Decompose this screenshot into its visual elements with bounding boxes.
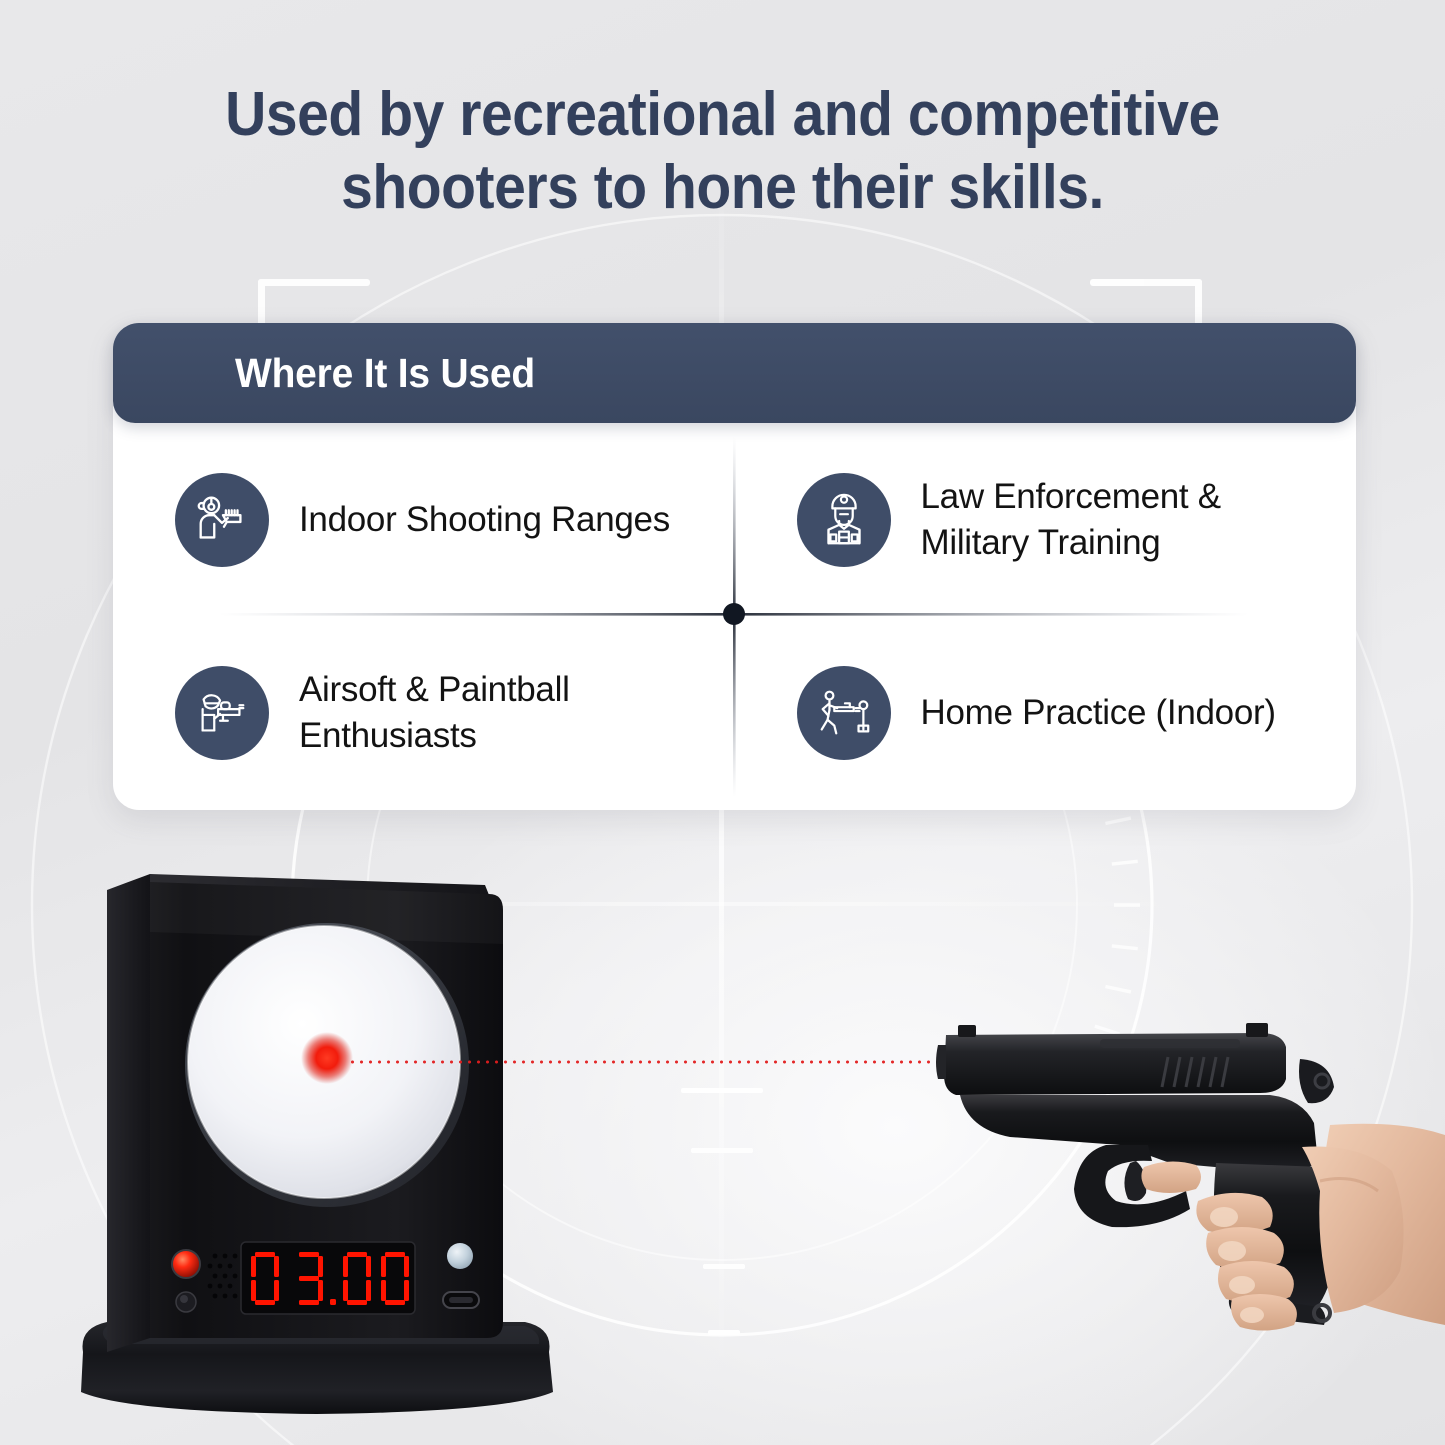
usage-item-label: Home Practice (Indoor) [921, 690, 1276, 736]
red-laser-dot [301, 1032, 353, 1084]
rifle-shooter-target-stand-icon [797, 666, 891, 760]
page-title: Used by recreational and competitive sho… [58, 78, 1387, 224]
usage-item-home-practice-indoor[interactable]: Home Practice (Indoor) [735, 617, 1357, 811]
where-it-is-used-card: Where It Is Used [113, 323, 1356, 810]
pistol-frame [960, 1095, 1318, 1173]
dotted-laser-line [348, 1060, 988, 1064]
usage-item-law-enforcement-military[interactable]: Law Enforcement & Military Training [735, 423, 1357, 617]
device-side-panel [107, 874, 150, 1352]
usage-item-label: Indoor Shooting Ranges [299, 497, 670, 543]
usage-item-label: Law Enforcement & Military Training [921, 474, 1323, 566]
paintball-player-icon [175, 666, 269, 760]
infographic-canvas: Used by recreational and competitive sho… [0, 0, 1445, 1445]
blue-status-led [447, 1243, 473, 1269]
usage-items-grid: Indoor Shooting Ranges [113, 423, 1356, 810]
hand-holding-pistol [930, 995, 1445, 1425]
shooter-with-pistol-icon [175, 473, 269, 567]
soldier-tactical-vest-icon [797, 473, 891, 567]
usage-item-airsoft-paintball[interactable]: Airsoft & Paintball Enthusiasts [113, 617, 735, 811]
card-title: Where It Is Used [235, 350, 535, 397]
headline-line-1: Used by recreational and competitive [113, 78, 1332, 151]
laser-training-target-device [55, 852, 575, 1432]
usage-item-indoor-shooting-ranges[interactable]: Indoor Shooting Ranges [113, 423, 735, 617]
card-header-banner: Where It Is Used [113, 323, 1356, 423]
trigger-finger [1141, 1161, 1201, 1193]
usage-item-label: Airsoft & Paintball Enthusiasts [299, 667, 701, 759]
headline-line-2: shooters to hone their skills. [113, 151, 1332, 224]
